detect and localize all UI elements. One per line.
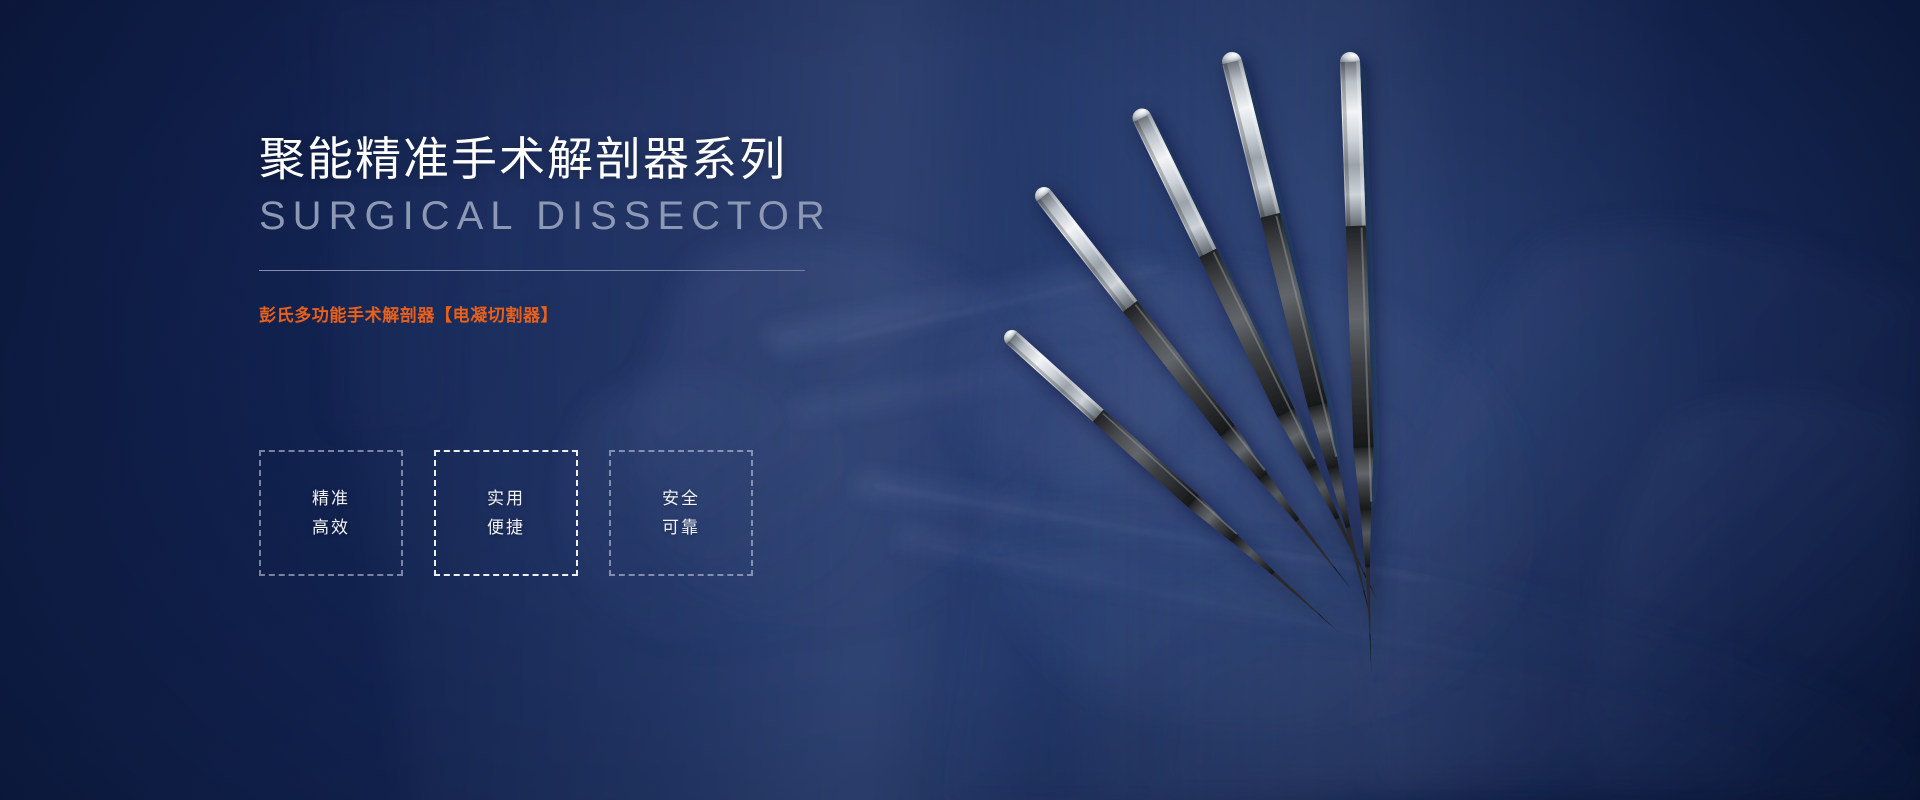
- feature-box-group: 精准 高效 实用 便捷 安全 可靠: [259, 450, 753, 576]
- hero-banner: 聚能精准手术解剖器系列 SURGICAL DISSECTOR 彭氏多功能手术解剖…: [0, 0, 1920, 800]
- feature-box-precision-line2: 高效: [312, 517, 350, 538]
- feature-box-practical: 实用 便捷: [434, 450, 578, 576]
- product-name-highlight: 彭氏多功能手术解剖器【电凝切割器】: [259, 301, 879, 326]
- feature-box-precision: 精准 高效: [259, 450, 403, 576]
- feature-box-safety: 安全 可靠: [609, 450, 753, 576]
- hero-copy: 聚能精准手术解剖器系列 SURGICAL DISSECTOR 彭氏多功能手术解剖…: [259, 132, 879, 326]
- page-subtitle-en: SURGICAL DISSECTOR: [259, 194, 879, 239]
- title-divider: [259, 270, 805, 271]
- feature-box-practical-line1: 实用: [487, 488, 525, 509]
- page-title: 聚能精准手术解剖器系列: [259, 132, 879, 186]
- feature-box-precision-line1: 精准: [312, 488, 350, 509]
- background-surgery-image: [0, 0, 1920, 800]
- feature-box-practical-line2: 便捷: [487, 517, 525, 538]
- feature-box-safety-line1: 安全: [662, 488, 700, 509]
- feature-box-safety-line2: 可靠: [662, 517, 700, 538]
